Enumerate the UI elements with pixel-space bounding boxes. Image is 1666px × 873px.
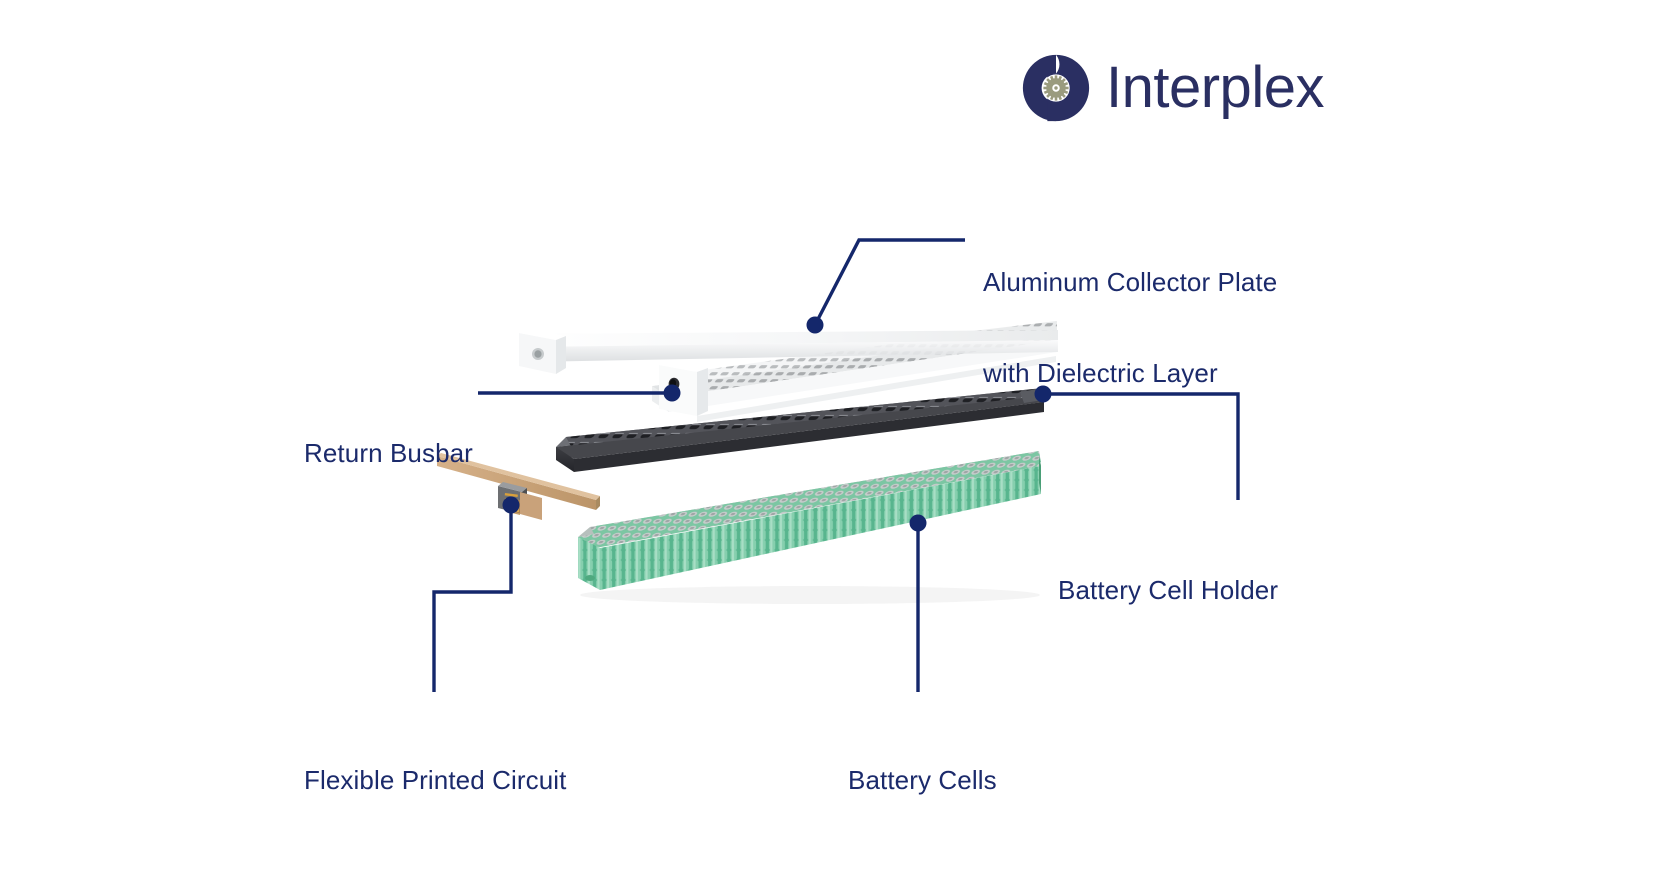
exploded-assembly-artwork (0, 0, 1666, 873)
callout-label-line1: Flexible Printed Circuit (304, 765, 567, 795)
callout-label-battery-cell-holder: Battery Cell Holder (1058, 514, 1278, 666)
leader-dot (807, 317, 824, 334)
leader-line (815, 240, 965, 325)
callout-label-flexible-printed-circuit: Flexible Printed Circuit (304, 704, 567, 856)
brand-wordmark: Interplex (1106, 59, 1324, 117)
callout-label-battery-cells: Battery Cells (848, 704, 997, 856)
leader-dot (664, 385, 681, 402)
return-busbar-artwork (519, 329, 1058, 422)
interplex-logo: Interplex (1020, 52, 1324, 124)
interplex-gear-p-logo-icon (1020, 52, 1092, 124)
callout-label-line2: with Dielectric Layer (983, 358, 1277, 388)
leader-return-busbar (478, 385, 681, 402)
battery-cells-artwork (578, 451, 1041, 604)
callout-leaders (0, 0, 1666, 873)
leader-dot (910, 515, 927, 532)
leader-dot (503, 497, 520, 514)
callout-label-return-busbar: Return Busbar (304, 377, 473, 529)
callout-label-line1: Battery Cell Holder (1058, 575, 1278, 605)
callout-label-aluminum-collector-plate: Aluminum Collector Plate with Dielectric… (983, 206, 1277, 449)
leader-battery-cells (910, 515, 927, 693)
leader-line (434, 505, 511, 692)
callout-label-line1: Aluminum Collector Plate (983, 267, 1277, 297)
callout-label-line1: Battery Cells (848, 765, 997, 795)
diagram-canvas: Interplex (0, 0, 1666, 873)
callout-label-line1: Return Busbar (304, 438, 473, 468)
leader-aluminum-collector-plate (807, 240, 966, 334)
battery-cell-holder-artwork (556, 388, 1044, 472)
